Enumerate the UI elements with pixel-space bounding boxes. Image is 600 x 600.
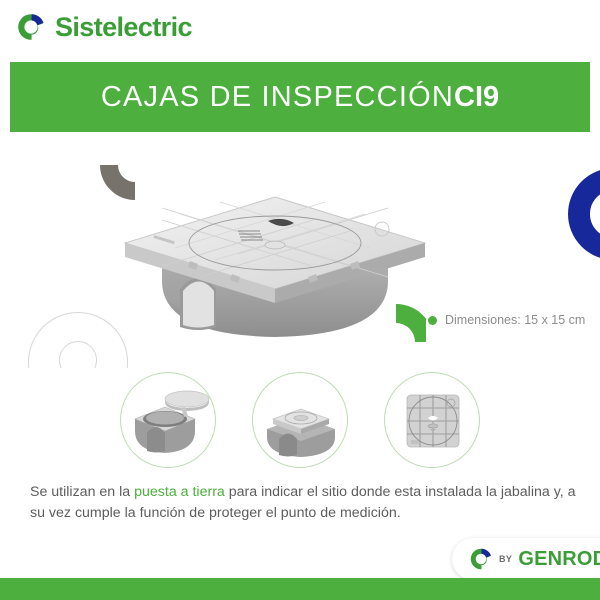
outline-arch xyxy=(28,312,128,368)
thumbnail-row xyxy=(120,372,480,468)
headline-banner: CAJAS DE INSPECCIÓNCI9 xyxy=(10,62,590,132)
thumb-top-view-lid[interactable] xyxy=(384,372,480,468)
inspection-box-product-photo xyxy=(120,185,430,340)
footer-by-label: BY xyxy=(499,554,512,564)
dimensions-callout: Dimensiones: 15 x 15 cm xyxy=(428,313,585,327)
thumb-closed-box[interactable] xyxy=(252,372,348,468)
copy-before: Se utilizan en la xyxy=(30,484,134,500)
description-paragraph: Se utilizan en la puesta a tierra para i… xyxy=(30,482,582,524)
brand-logo: Sistelectric xyxy=(16,12,192,42)
page-title: CAJAS DE INSPECCIÓNCI9 xyxy=(101,81,499,114)
blue-ring xyxy=(568,168,600,260)
footer-bar xyxy=(0,578,600,600)
genrod-footer-logo: BY GENROD xyxy=(452,538,600,580)
genrod-ring-icon xyxy=(469,547,493,571)
brand-name: Sistelectric xyxy=(55,14,192,41)
title-main: CAJAS DE INSPECCIÓN xyxy=(101,81,454,113)
title-model: CI9 xyxy=(454,81,499,113)
dimensions-label: Dimensiones: 15 x 15 cm xyxy=(445,313,585,327)
thumb-open-box-with-lid[interactable] xyxy=(120,372,216,468)
poster-canvas: Sistelectric CAJAS DE INSPECCIÓNCI9 xyxy=(0,0,600,600)
sistelectric-ring-icon xyxy=(16,12,46,42)
footer-brand-name: GENROD xyxy=(518,548,600,571)
copy-highlight: puesta a tierra xyxy=(134,484,225,500)
green-dot-icon xyxy=(428,316,437,325)
